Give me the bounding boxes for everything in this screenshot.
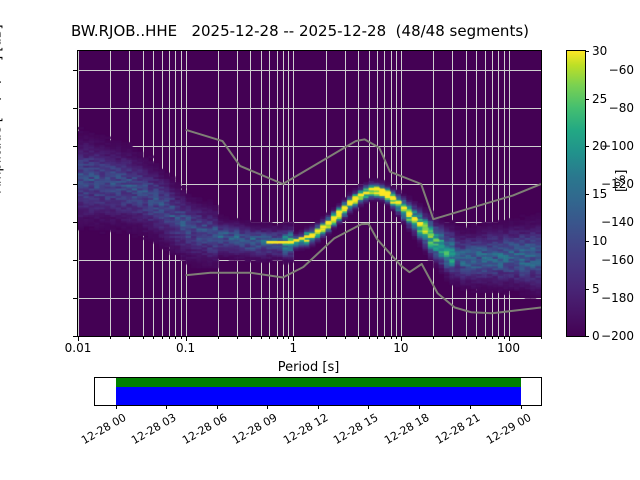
colorbar-tick-mark [585, 99, 589, 100]
x-tick-minor [110, 336, 111, 339]
colorbar-label: [%] [614, 170, 629, 193]
y-tick-mark [73, 222, 78, 223]
colorbar-tick-mark [585, 289, 589, 290]
ppsd-axes[interactable] [77, 50, 542, 337]
colorbar-tick-label: 15 [592, 187, 607, 201]
x-tick-minor [369, 336, 370, 339]
x-tick-minor [162, 336, 163, 339]
x-tick-minor [143, 336, 144, 339]
x-tick-minor [237, 336, 238, 339]
y-axis-label-units: m2/s4/Hz [0, 61, 4, 117]
x-tick-minor [384, 336, 385, 339]
y-tick-mark [73, 70, 78, 71]
timeline-tick-mark [470, 405, 471, 409]
x-tick-minor [326, 336, 327, 339]
noise-model-nlnm [186, 224, 541, 313]
timeline-tick-label: 12-28 18 [382, 411, 431, 447]
noise-model-curves [78, 51, 541, 336]
y-tick-mark [73, 184, 78, 185]
x-tick-minor [283, 336, 284, 339]
colorbar-tick-label: 0 [592, 329, 600, 343]
timeline-tick-mark [116, 405, 117, 409]
timeline-tick-mark [217, 405, 218, 409]
y-tick-mark [73, 146, 78, 147]
colorbar-tick-label: 5 [592, 282, 600, 296]
colorbar-tick-mark [585, 146, 589, 147]
coverage-timeline-area [95, 378, 541, 405]
y-tick-label: −60 [609, 63, 634, 77]
x-tick-minor [433, 336, 434, 339]
timeline-tick-mark [267, 405, 268, 409]
x-tick-minor [377, 336, 378, 339]
x-tick-minor [261, 336, 262, 339]
timeline-tick-mark [166, 405, 167, 409]
x-tick-label: 100 [497, 341, 520, 355]
noise-model-nhnm [186, 130, 541, 219]
timeline-tick-label: 12-29 00 [484, 411, 533, 447]
x-tick-minor [169, 336, 170, 339]
timeline-tick-mark [368, 405, 369, 409]
x-tick-minor [504, 336, 505, 339]
y-tick-label: −160 [601, 253, 634, 267]
timeline-tick-mark [419, 405, 420, 409]
timeline-tick-mark [318, 405, 319, 409]
y-tick-label: −200 [601, 329, 634, 343]
y-axis-label: Amplitude [m2/s4/Hz] [dB] [0, 24, 4, 193]
x-tick-minor [466, 336, 467, 339]
y-tick-mark [73, 298, 78, 299]
x-tick-label: 0.1 [176, 341, 195, 355]
x-tick-minor [492, 336, 493, 339]
coverage-band-psd [116, 387, 521, 405]
colorbar [566, 50, 586, 337]
x-tick-label: 0.01 [65, 341, 92, 355]
colorbar-tick-mark [585, 336, 589, 337]
timeline-tick-label: 12-28 00 [79, 411, 128, 447]
x-tick-minor [269, 336, 270, 339]
x-tick-minor [345, 336, 346, 339]
coverage-timeline-axes[interactable] [94, 377, 542, 406]
x-tick-minor [358, 336, 359, 339]
x-tick-minor [288, 336, 289, 339]
x-tick-minor [129, 336, 130, 339]
timeline-tick-mark [521, 405, 522, 409]
timeline-tick-label: 12-28 21 [433, 411, 482, 447]
coverage-band-data [116, 378, 521, 387]
x-tick-minor [153, 336, 154, 339]
y-tick-label: −180 [601, 291, 634, 305]
x-tick-minor [277, 336, 278, 339]
x-tick-minor [391, 336, 392, 339]
timeline-tick-label: 12-28 12 [281, 411, 330, 447]
x-tick-minor [175, 336, 176, 339]
x-tick-minor [181, 336, 182, 339]
colorbar-tick-mark [585, 194, 589, 195]
x-tick-label: 1 [289, 341, 297, 355]
x-tick-minor [485, 336, 486, 339]
x-tick-minor [251, 336, 252, 339]
y-axis-label-prefix: Amplitude [ [0, 117, 4, 193]
page-title: BW.RJOB..HHE 2025-12-28 -- 2025-12-28 (4… [0, 22, 600, 40]
colorbar-tick-mark [585, 241, 589, 242]
colorbar-tick-label: 30 [592, 44, 607, 58]
x-axis-label: Period [s] [77, 360, 540, 375]
y-tick-mark [73, 108, 78, 109]
x-tick-minor [452, 336, 453, 339]
colorbar-tick-label: 10 [592, 234, 607, 248]
y-tick-label: −80 [609, 101, 634, 115]
y-axis-label-suffix: ] [dB] [0, 24, 4, 61]
x-tick-minor [218, 336, 219, 339]
timeline-tick-label: 12-28 03 [130, 411, 179, 447]
timeline-tick-label: 12-28 09 [230, 411, 279, 447]
x-tick-label: 10 [393, 341, 408, 355]
y-tick-label: −140 [601, 215, 634, 229]
y-tick-mark [73, 260, 78, 261]
colorbar-tick-label: 25 [592, 92, 607, 106]
colorbar-tick-mark [585, 51, 589, 52]
x-tick-minor [541, 336, 542, 339]
timeline-tick-label: 12-28 06 [180, 411, 229, 447]
colorbar-tick-label: 20 [592, 139, 607, 153]
x-tick-minor [498, 336, 499, 339]
x-tick-minor [396, 336, 397, 339]
x-tick-minor [476, 336, 477, 339]
ppsd-figure: BW.RJOB..HHE 2025-12-28 -- 2025-12-28 (4… [0, 0, 640, 480]
timeline-tick-label: 12-28 15 [332, 411, 381, 447]
ppsd-plot-area [78, 51, 541, 336]
